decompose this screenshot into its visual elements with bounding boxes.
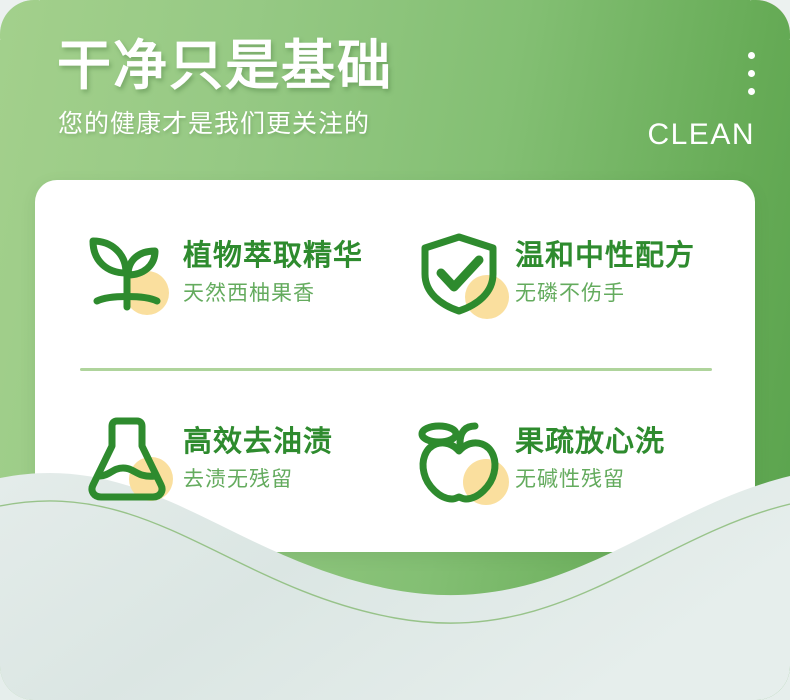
- page-subtitle: 您的健康才是我们更关注的: [58, 112, 370, 137]
- shield-check-icon: [413, 227, 505, 319]
- feature-card: 植物萃取精华 天然西柚果香 温和中性配方 无磷: [35, 180, 755, 552]
- ellipsis-dot: [748, 70, 755, 77]
- flask-icon: [81, 413, 173, 505]
- feature-text: 高效去油渍 去渍无残留: [183, 427, 333, 491]
- corner-mask-top-left: [0, 0, 40, 40]
- feature-item-degrease[interactable]: 高效去油渍 去渍无残留: [35, 366, 395, 552]
- ellipsis-dot: [748, 88, 755, 95]
- feature-subtitle: 天然西柚果香: [183, 282, 363, 305]
- feature-text: 果疏放心洗 无碱性残留: [515, 427, 665, 491]
- feature-subtitle: 无磷不伤手: [515, 282, 695, 305]
- green-panel: 干净只是基础 您的健康才是我们更关注的 CLEAN: [0, 0, 790, 700]
- feature-text: 温和中性配方 无磷不伤手: [515, 241, 695, 305]
- brand-label: CLEAN: [647, 120, 755, 150]
- corner-mask-top-right: [750, 0, 790, 40]
- apple-icon: [413, 413, 505, 505]
- ellipsis-dot: [748, 52, 755, 59]
- feature-item-neutral-formula[interactable]: 温和中性配方 无磷不伤手: [395, 180, 755, 366]
- sprout-icon: [81, 227, 173, 319]
- feature-title: 植物萃取精华: [183, 241, 363, 273]
- feature-title: 温和中性配方: [515, 241, 695, 273]
- feature-grid: 植物萃取精华 天然西柚果香 温和中性配方 无磷: [35, 180, 755, 552]
- vertical-ellipsis-icon[interactable]: [745, 52, 757, 95]
- row-divider: [80, 368, 712, 371]
- feature-title: 高效去油渍: [183, 427, 333, 459]
- feature-subtitle: 去渍无残留: [183, 468, 333, 491]
- page-title: 干净只是基础: [57, 39, 393, 93]
- feature-text: 植物萃取精华 天然西柚果香: [183, 241, 363, 305]
- feature-subtitle: 无碱性残留: [515, 468, 665, 491]
- feature-title: 果疏放心洗: [515, 427, 665, 459]
- feature-item-produce-safe[interactable]: 果疏放心洗 无碱性残留: [395, 366, 755, 552]
- poster-header: 干净只是基础 您的健康才是我们更关注的 CLEAN: [0, 0, 790, 180]
- promo-poster: 干净只是基础 您的健康才是我们更关注的 CLEAN: [0, 0, 790, 700]
- feature-item-plant-extract[interactable]: 植物萃取精华 天然西柚果香: [35, 180, 395, 366]
